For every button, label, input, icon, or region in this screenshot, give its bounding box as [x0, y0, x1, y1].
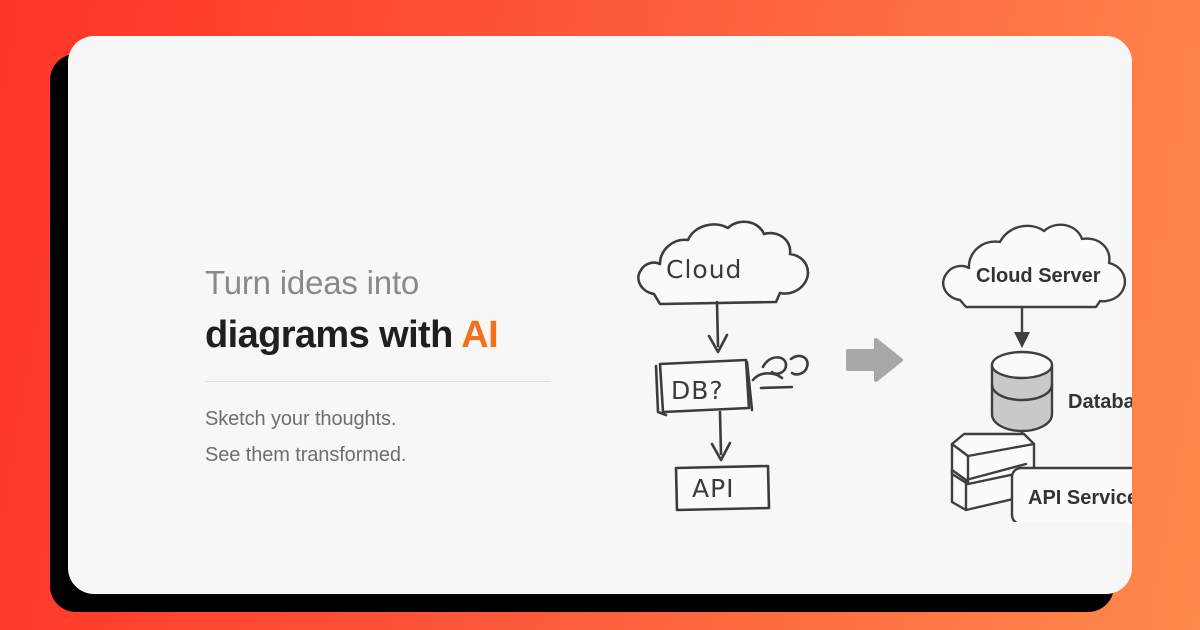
sketch-arrow-cloud-to-db [709, 302, 727, 352]
sketch-db-label: DB? [671, 376, 724, 405]
clean-cloud-label: Cloud Server [976, 265, 1101, 287]
subtitle-line-1: Sketch your thoughts. [205, 402, 565, 438]
sketch-api-label: API [692, 474, 735, 503]
headline-line-1: Turn ideas into [205, 264, 565, 303]
clean-database-label: Database [1068, 391, 1132, 413]
clean-arrow-cloud-to-database [1014, 307, 1030, 348]
clean-database-node: Database [992, 352, 1132, 431]
content-card: Turn ideas into diagrams with AI Sketch … [68, 36, 1132, 594]
sketch-arrow-db-to-api [712, 412, 730, 460]
clean-api-service-node: API Service [952, 434, 1132, 522]
arrowhead [1014, 332, 1030, 348]
subtitle-block: Sketch your thoughts. See them transform… [205, 402, 565, 473]
sketch-cloud-node: Cloud [638, 222, 808, 304]
headline-plain-text: diagrams with [205, 314, 461, 356]
sketch-doodle-squiggle [753, 356, 808, 388]
sketch-diagram: Cloud DB? [616, 212, 846, 522]
clean-diagram: Cloud Server Database [930, 212, 1132, 522]
headline-block: Turn ideas into diagrams with AI Sketch … [205, 264, 565, 474]
right-arrow-icon [848, 340, 901, 380]
sketch-db-node: DB? [656, 360, 752, 415]
subtitle-line-2: See them transformed. [205, 438, 565, 474]
headline-divider [205, 381, 551, 382]
clean-api-service-label: API Service [1028, 487, 1132, 509]
headline-accent-text: AI [461, 314, 498, 356]
sketch-cloud-label: Cloud [666, 255, 742, 284]
clean-cloud-node: Cloud Server [943, 225, 1125, 307]
headline-line-2: diagrams with AI [205, 312, 565, 360]
sketch-api-node: API [676, 466, 769, 510]
transform-arrow [846, 336, 904, 384]
